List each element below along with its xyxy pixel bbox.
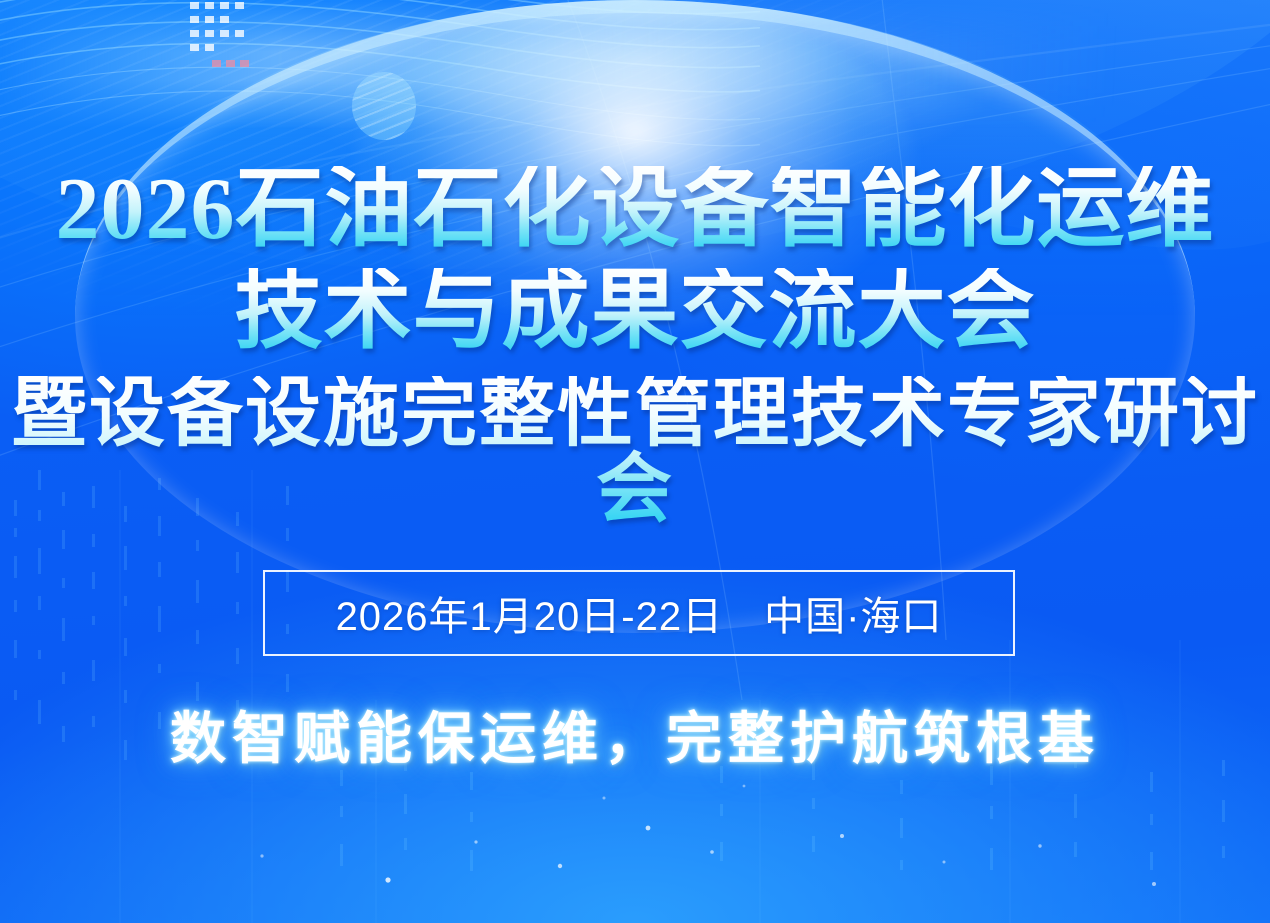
page-title-line-1: 2026石油石化设备智能化运维 [0, 166, 1270, 254]
poster-title-block: 2026石油石化设备智能化运维 技术与成果交流大会 暨设备设施完整性管理技术专家… [0, 166, 1270, 528]
poster-slogan: 数智赋能保运维，完整护航筑根基 [0, 694, 1270, 775]
conference-poster: 2026石油石化设备智能化运维 技术与成果交流大会 暨设备设施完整性管理技术专家… [0, 0, 1270, 923]
date-location-text: 2026年1月20日-22日 中国·海口 [336, 584, 943, 642]
page-title-line-3: 暨设备设施完整性管理技术专家研讨会 [0, 376, 1270, 528]
poster-content: 2026石油石化设备智能化运维 技术与成果交流大会 暨设备设施完整性管理技术专家… [0, 0, 1270, 923]
page-title-line-2: 技术与成果交流大会 [0, 268, 1270, 356]
date-location-box: 2026年1月20日-22日 中国·海口 [263, 570, 1015, 656]
